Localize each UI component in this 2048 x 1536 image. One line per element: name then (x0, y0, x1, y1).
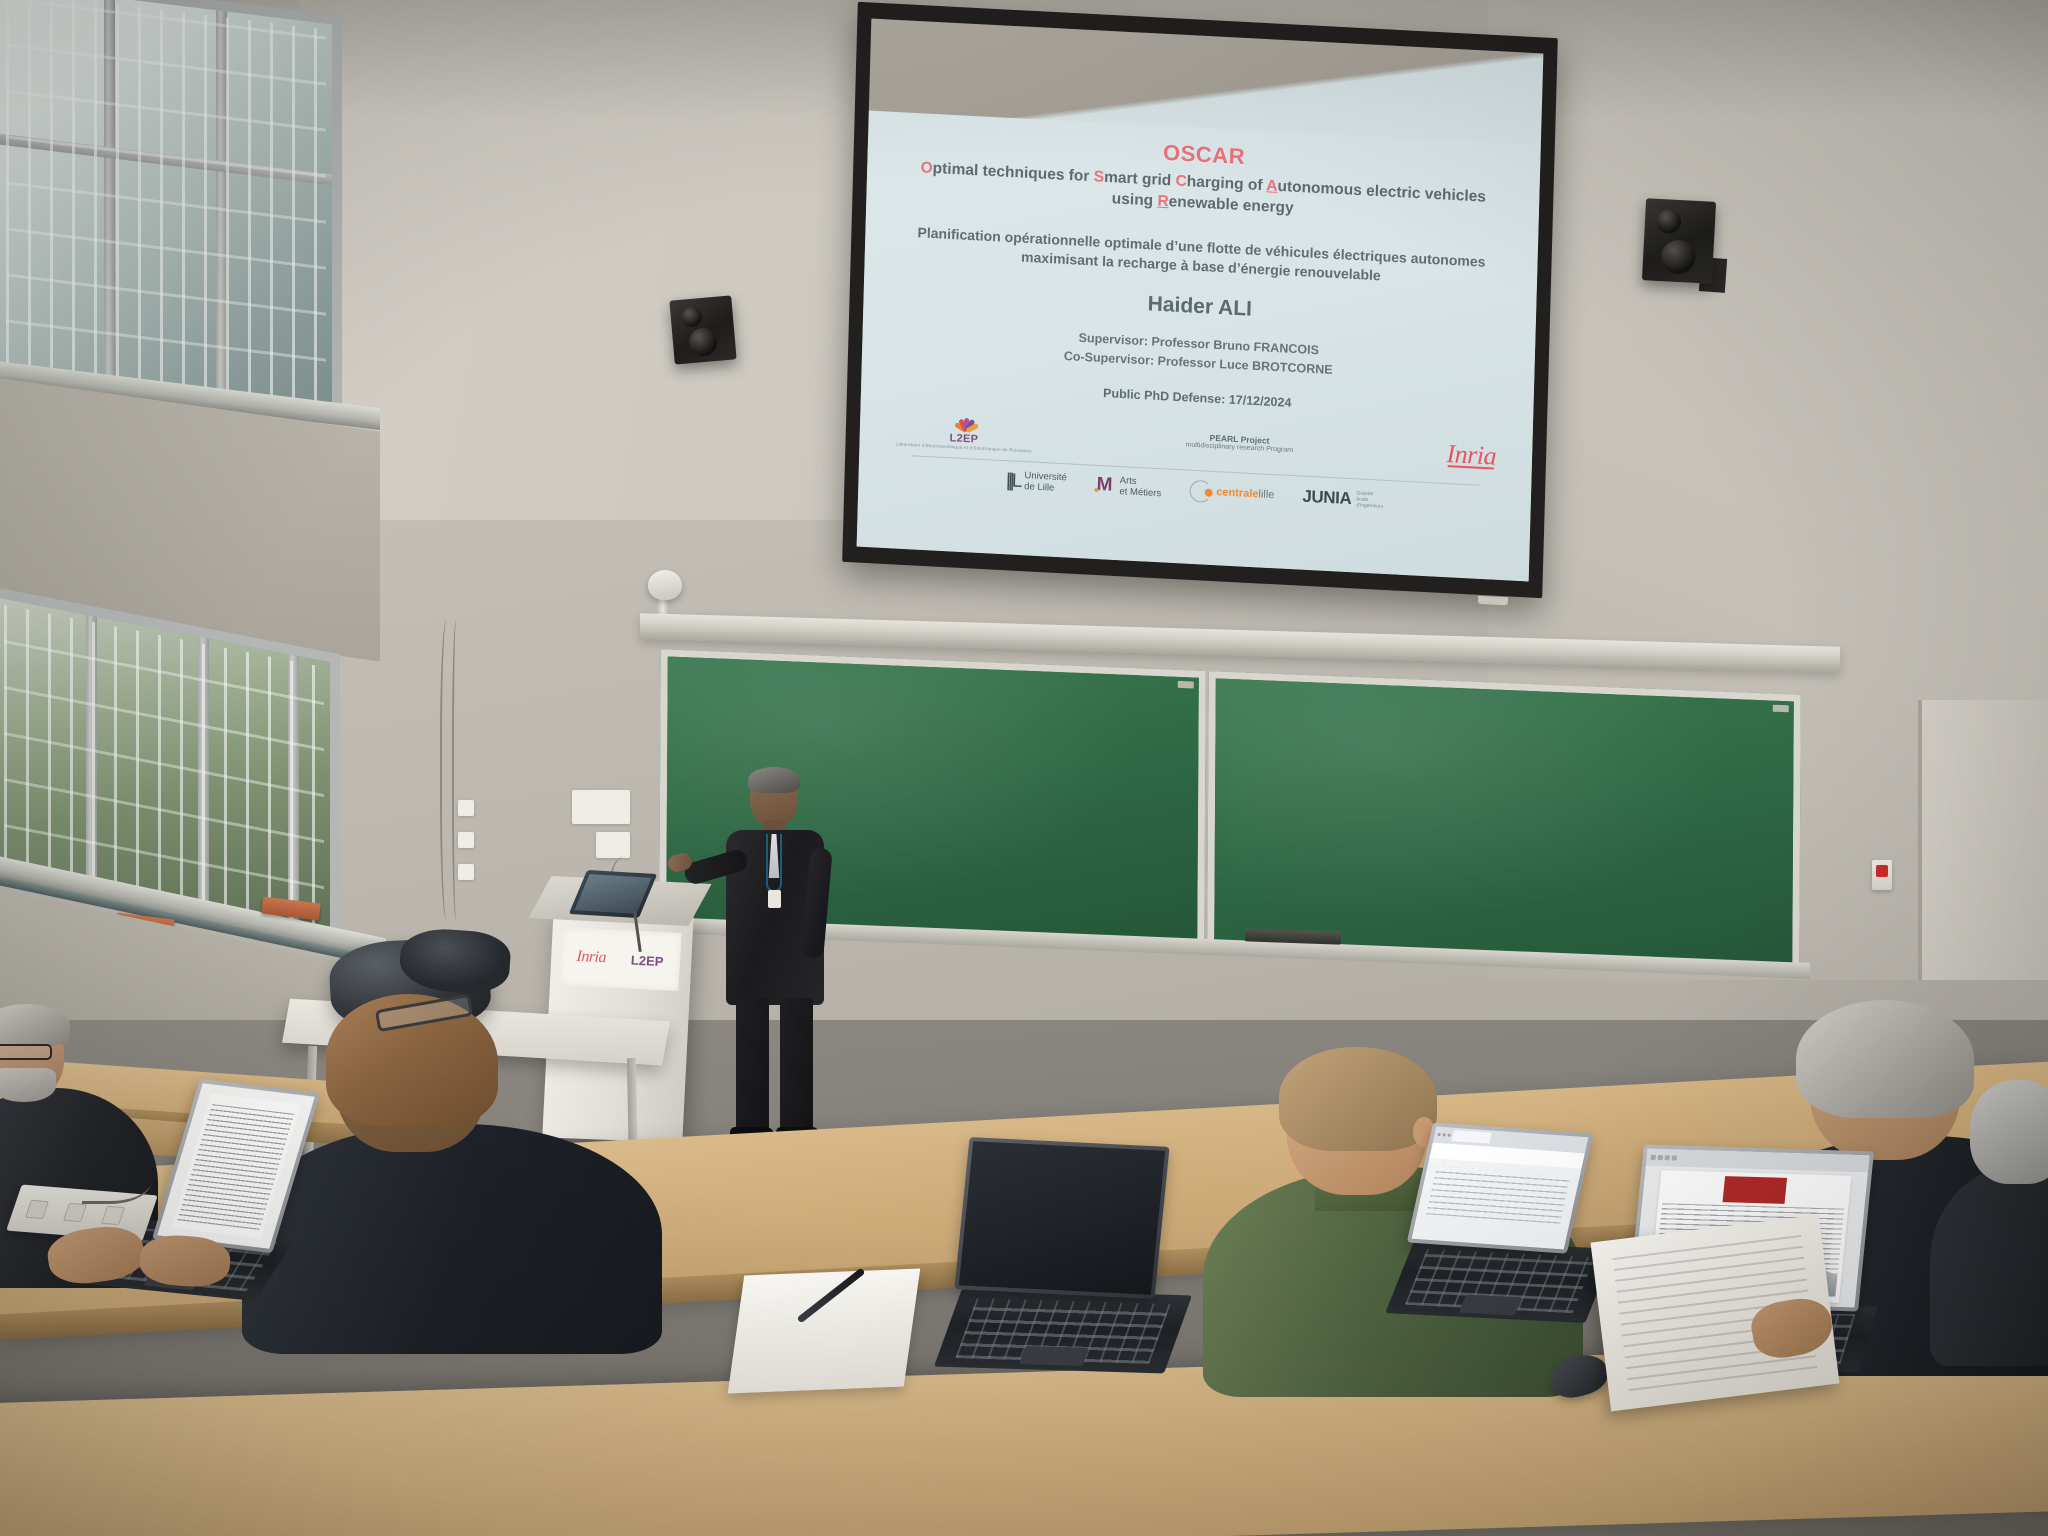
presenter-legs (736, 998, 816, 1130)
junia-logo: JUNIA Grandeécoled’ingénieurs (1302, 487, 1384, 511)
slide-title-french: Planification opérationnelle optimale d’… (887, 221, 1516, 291)
title-slide: OSCAR Optimal techniques for Smart grid … (857, 111, 1541, 582)
window-upper-left (0, 0, 342, 426)
audience-beard (0, 1068, 56, 1102)
door-right[interactable] (1918, 700, 2048, 980)
lille-label: Universitéde Lille (1024, 471, 1067, 494)
browser-tab[interactable] (1451, 1130, 1491, 1144)
arts-et-metiers-logo: Artset Métiers (1094, 475, 1161, 500)
maximize-icon[interactable] (1447, 1134, 1451, 1137)
audience-member (1930, 1080, 2048, 1340)
audience-hair (0, 1004, 70, 1046)
document-text (178, 1104, 294, 1230)
toolbar-icon[interactable] (1672, 1155, 1678, 1160)
audience-head (1970, 1080, 2048, 1184)
universite-de-lille-logo: |||L Universitéde Lille (1006, 470, 1067, 495)
centralelille-logo: centralelille (1189, 480, 1275, 506)
toolbar[interactable] (1646, 1149, 1870, 1172)
wall-switch[interactable] (458, 832, 474, 848)
audience-member (290, 1000, 620, 1340)
pearl-project-logo: PEARL Project multidisciplinary research… (1186, 431, 1294, 454)
wall-speaker-right (1642, 198, 1716, 284)
arts-metiers-mark-icon (1094, 477, 1114, 495)
centralelille-label: centralelille (1216, 486, 1274, 501)
wall-switch[interactable] (458, 800, 474, 816)
wall-outlet-panel[interactable] (572, 790, 630, 824)
presenter-lanyard (766, 834, 782, 892)
trackpad[interactable] (1459, 1294, 1522, 1315)
window-glass (0, 0, 332, 414)
toolbar-icon[interactable] (1651, 1155, 1657, 1160)
podium-l2ep-logo: L2EP (631, 952, 664, 969)
inria-logo: Inria (1446, 439, 1496, 470)
toolbar-icon[interactable] (1658, 1155, 1664, 1160)
lille-mark-icon: |||L (1006, 470, 1020, 493)
document-page (171, 1094, 301, 1239)
laptop-lid[interactable] (954, 1137, 1169, 1299)
presenter-hair (748, 767, 800, 793)
junia-sublabel: Grandeécoled’ingénieurs (1356, 490, 1383, 509)
wall-switch[interactable] (458, 864, 474, 880)
document-header-block (1723, 1176, 1787, 1204)
board-clip[interactable] (1773, 705, 1789, 713)
podium-banner: Inria L2EP (558, 927, 681, 991)
glasses-icon (0, 1044, 52, 1060)
junia-label: JUNIA (1302, 487, 1352, 510)
presenter (710, 770, 840, 1160)
notepad (728, 1268, 921, 1393)
chalkboard-surface (1214, 678, 1794, 967)
arts-metiers-label: Artset Métiers (1119, 476, 1161, 499)
browser-content (1412, 1142, 1585, 1249)
l2ep-mark-icon (947, 406, 982, 434)
lecture-hall-scene: OSCAR Optimal techniques for Smart grid … (0, 0, 2048, 1536)
l2ep-logo: L2EP Laboratoire d’Electrotechnique et d… (895, 403, 1032, 453)
wall-speaker-left (669, 295, 736, 364)
audience-head (0, 1010, 64, 1098)
minimize-icon[interactable] (1442, 1134, 1446, 1137)
wall-outlet[interactable] (596, 832, 630, 858)
laptop-lid[interactable] (1407, 1122, 1593, 1253)
close-icon[interactable] (1437, 1133, 1441, 1136)
board-clip[interactable] (1178, 681, 1194, 689)
laptop-base[interactable] (934, 1289, 1192, 1374)
trackpad[interactable] (1018, 1346, 1089, 1367)
laptop-base[interactable] (1385, 1239, 1615, 1323)
toolbar-icon[interactable] (1665, 1155, 1671, 1160)
projection-screen: OSCAR Optimal techniques for Smart grid … (842, 2, 1558, 598)
podium-inria-logo: Inria (576, 948, 607, 967)
projection-surface: OSCAR Optimal techniques for Smart grid … (857, 19, 1544, 582)
laptop-screen (959, 1141, 1165, 1295)
smoke-detector-icon (648, 570, 682, 600)
fire-alarm-icon[interactable] (1872, 860, 1892, 890)
screen-pull-tab[interactable] (1478, 596, 1508, 606)
laptop-screen (1412, 1127, 1589, 1250)
presenter-badge (768, 890, 781, 908)
centralelille-mark-icon (1189, 480, 1212, 503)
presenter-laptop-screen (574, 874, 651, 914)
audience-body (242, 1124, 662, 1354)
audience-body (1930, 1166, 2048, 1366)
